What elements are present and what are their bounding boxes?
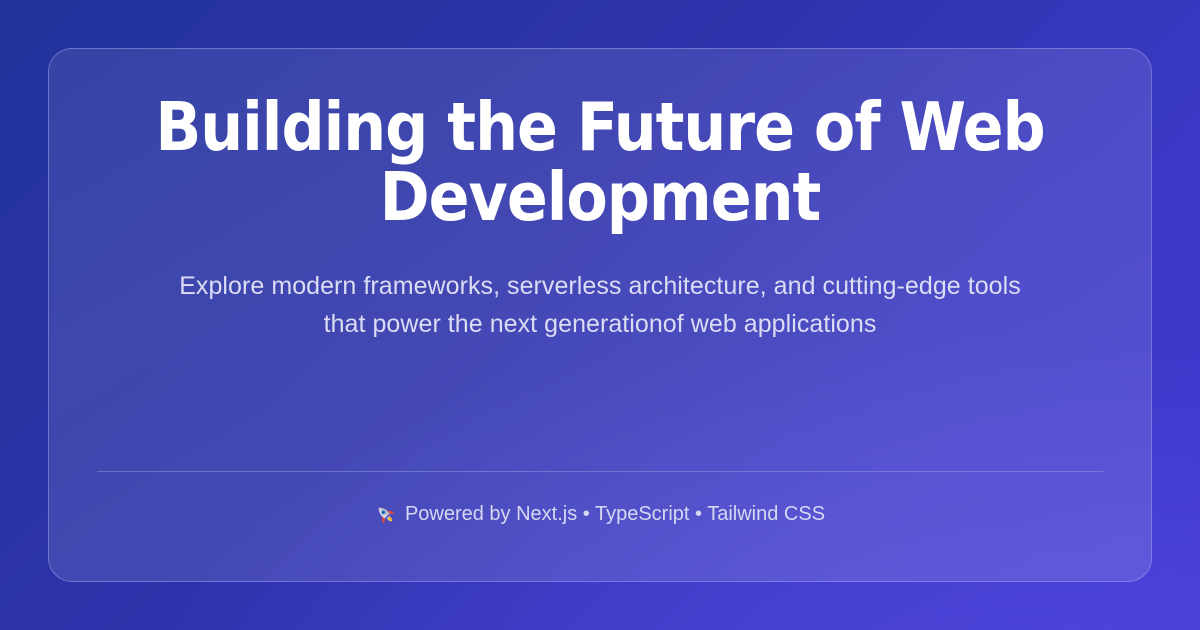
footer-credit-text: Powered by Next.js • TypeScript • Tailwi… <box>405 502 825 526</box>
page-title: Building the Future of Web Development <box>97 93 1103 232</box>
og-image-canvas: Building the Future of Web Development E… <box>0 0 1200 630</box>
card-footer: Powered by Next.js • TypeScript • Tailwi… <box>97 471 1103 530</box>
rocket-icon <box>375 504 396 525</box>
footer-credit-line: Powered by Next.js • TypeScript • Tailwi… <box>375 502 825 526</box>
page-subtitle: Explore modern frameworks, serverless ar… <box>165 268 1035 343</box>
hero-card: Building the Future of Web Development E… <box>48 48 1152 582</box>
hero-main-content: Building the Future of Web Development E… <box>97 93 1103 343</box>
layout-spacer <box>97 343 1103 470</box>
